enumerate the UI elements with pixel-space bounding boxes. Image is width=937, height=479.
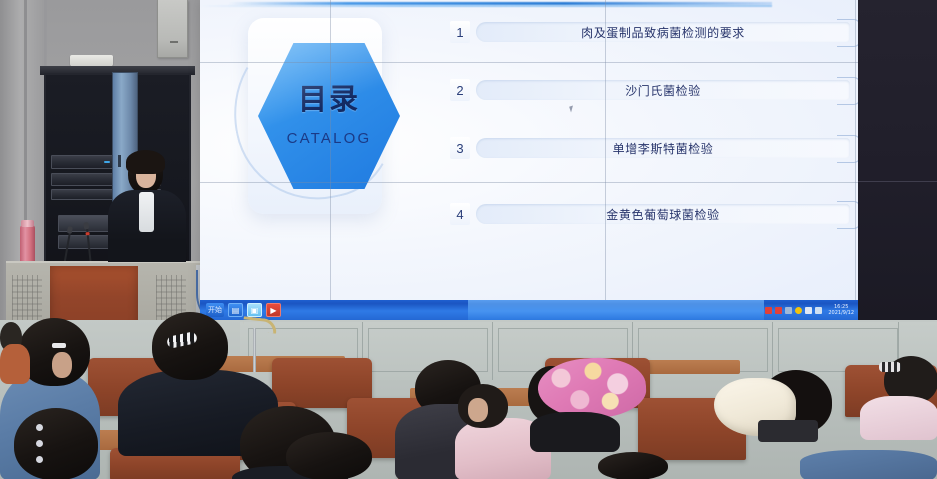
hair-clip-2 <box>36 440 43 447</box>
audience-dark-top-head <box>152 312 228 380</box>
presenter-shirt <box>139 192 154 232</box>
presenter-hair <box>126 150 165 174</box>
catalog-item-3-number: 3 <box>450 137 470 159</box>
audience-blue-top-right <box>800 450 937 479</box>
start-button[interactable]: 开始 <box>206 303 224 317</box>
audience-hair-band <box>52 343 66 348</box>
catalog-item-2-bar: 沙门氏菌检验 <box>476 80 850 100</box>
audience-pink-top-face <box>468 398 488 422</box>
mouse-cursor <box>569 106 575 113</box>
tray-icon-3[interactable] <box>785 307 792 314</box>
catalog-item-4-label: 金黄色葡萄球菌检验 <box>606 206 719 223</box>
catalog-title-cn: 目录 <box>298 85 360 114</box>
window-task-button[interactable]: ▤ <box>228 303 243 317</box>
start-button-label: 开始 <box>208 305 222 315</box>
catalog-item-2-label: 沙门氏菌检验 <box>625 82 701 99</box>
audience-front-right-head <box>598 452 668 479</box>
panel-seam-v1 <box>330 0 331 320</box>
audience-hairclip-head <box>14 408 98 479</box>
taskbar-clock[interactable]: 16:25 2021/9/12 <box>828 304 854 316</box>
tray-network-icon[interactable] <box>815 307 822 314</box>
catalog-item-1-bar: 肉及蛋制品致病菌检测的要求 <box>476 22 850 42</box>
panel-seam-h2 <box>200 182 858 183</box>
system-tray[interactable]: 16:25 2021/9/12 <box>765 300 856 320</box>
audience-right-body <box>860 396 937 440</box>
catalog-item-2-number: 2 <box>450 79 470 101</box>
media-player-icon[interactable]: ▶ <box>266 303 281 317</box>
catalog-item-3[interactable]: 3 单增李斯特菌检验 <box>450 140 850 156</box>
ceiling-speaker <box>157 0 188 58</box>
tray-icon-2[interactable] <box>775 307 782 314</box>
catalog-item-1-number: 1 <box>450 21 470 43</box>
tray-volume-icon[interactable] <box>805 307 812 314</box>
panel-seam-h1 <box>200 62 858 63</box>
audience-mic-stand <box>253 328 256 372</box>
lecture-hall-scene: 目录 CATALOG 1 肉及蛋制品致病菌检测的要求 2 沙门氏菌检验 <box>0 0 937 479</box>
catalog-list: 1 肉及蛋制品致病菌检测的要求 2 沙门氏菌检验 3 单增李斯特菌检验 <box>450 10 850 222</box>
catalog-item-4[interactable]: 4 金黄色葡萄球菌检验 <box>450 206 850 222</box>
audience-cream-cap-body <box>758 420 818 442</box>
catalog-item-1[interactable]: 1 肉及蛋制品致病菌检测的要求 <box>450 24 850 40</box>
slide-top-accent-line-2 <box>200 5 772 7</box>
tray-icon-1[interactable] <box>765 307 772 314</box>
led-video-wall: 目录 CATALOG 1 肉及蛋制品致病菌检测的要求 2 沙门氏菌检验 <box>200 0 858 320</box>
audience-right-hair-clip <box>879 362 901 372</box>
wall-dark-seam <box>858 181 937 182</box>
catalog-item-2[interactable]: 2 沙门氏菌检验 <box>450 82 850 98</box>
app-icon-blue[interactable]: ▣ <box>247 303 262 317</box>
clock-date: 2021/9/12 <box>828 310 854 316</box>
taskbar-highlight <box>468 300 764 320</box>
audience-denim-jacket-face <box>52 352 72 378</box>
catalog-item-3-label: 单增李斯特菌检验 <box>613 140 714 157</box>
catalog-title-en: CATALOG <box>287 130 372 147</box>
audience-floral-hat-body <box>530 412 620 452</box>
audience-center-low-head <box>286 432 372 479</box>
panel-seam-v2 <box>605 0 606 320</box>
hair-clip-1 <box>36 424 43 431</box>
wall-dark-right <box>858 0 937 320</box>
thermos-bottle <box>20 225 35 265</box>
audience-body-far-left <box>0 344 30 384</box>
presentation-slide: 目录 CATALOG 1 肉及蛋制品致病菌检测的要求 2 沙门氏菌检验 <box>200 0 858 320</box>
panel-seam-v3 <box>855 0 856 320</box>
catalog-item-3-bar: 单增李斯特菌检验 <box>476 138 850 158</box>
catalog-item-4-number: 4 <box>450 203 470 225</box>
catalog-item-4-bar: 金黄色葡萄球菌检验 <box>476 204 850 224</box>
windows-taskbar[interactable]: 开始 ▤ ▣ ▶ 16:25 2021/9/12 <box>200 300 858 320</box>
tray-icon-4[interactable] <box>795 307 802 314</box>
hair-clip-3 <box>36 456 43 463</box>
